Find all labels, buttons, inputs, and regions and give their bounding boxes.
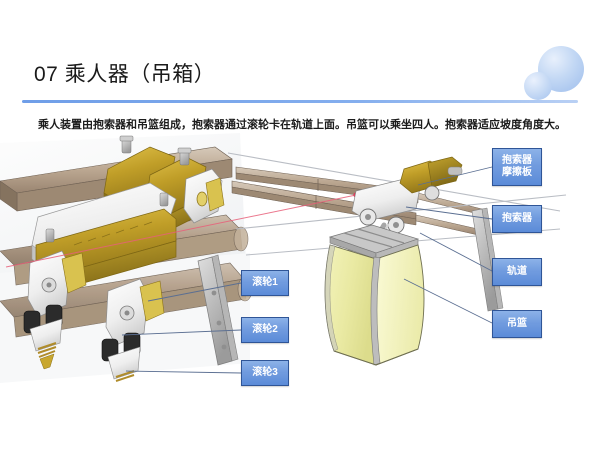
- title-divider: [22, 100, 578, 103]
- callout-roller-1[interactable]: 滚轮1: [241, 270, 289, 296]
- callout-friction-plate-line1: 抱索器: [502, 155, 532, 167]
- cabin-body-part: [325, 225, 424, 365]
- callout-roller-2[interactable]: 滚轮2: [241, 317, 289, 343]
- slide-subtitle: 乘人装置由抱索器和吊篮组成，抱索器通过滚轮卡在轨道上面。吊篮可以乘坐四人。抱索器…: [38, 116, 568, 132]
- callout-roller-3[interactable]: 滚轮3: [241, 360, 289, 386]
- callout-friction-plate[interactable]: 抱索器 摩擦板: [492, 148, 542, 186]
- callout-friction-plate-line2: 摩擦板: [502, 167, 532, 179]
- small-blue-circle-icon: [524, 72, 552, 100]
- callout-track-label: 轨道: [507, 266, 527, 278]
- page-title: 07 乘人器（吊箱）: [34, 58, 215, 88]
- callout-grip-label: 抱索器: [502, 213, 532, 225]
- callout-roller-2-label: 滚轮2: [252, 324, 278, 336]
- callout-track[interactable]: 轨道: [492, 258, 542, 286]
- header-decoration: [512, 40, 592, 108]
- callout-roller-3-label: 滚轮3: [252, 367, 278, 379]
- callout-grip[interactable]: 抱索器: [492, 205, 542, 233]
- callout-roller-1-label: 滚轮1: [252, 277, 278, 289]
- callout-cabin-label: 吊篮: [507, 318, 527, 330]
- callout-cabin[interactable]: 吊篮: [492, 310, 542, 338]
- slide-root: 07 乘人器（吊箱） 乘人装置由抱索器和吊篮组成，抱索器通过滚轮卡在轨道上面。吊…: [0, 0, 600, 450]
